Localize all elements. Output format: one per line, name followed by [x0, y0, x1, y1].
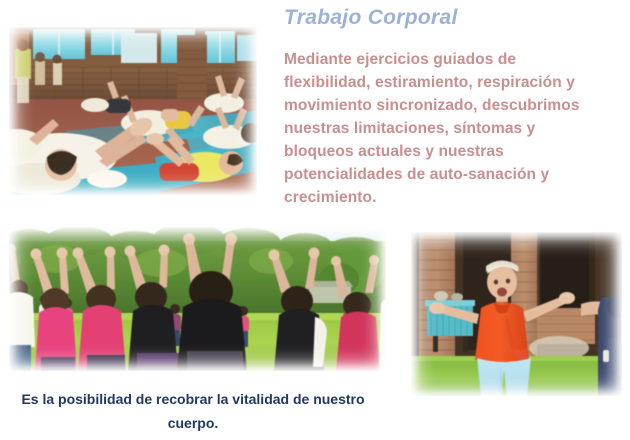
photo-woman-outdoor-graphic	[411, 232, 622, 396]
caption-text: Es la posibilidad de recobrar la vitalid…	[18, 387, 368, 435]
page-title: Trabajo Corporal	[284, 6, 614, 30]
photo-yoga-indoor-graphic	[9, 27, 257, 195]
photo-group-outdoor	[9, 227, 386, 371]
photo-yoga-indoor	[9, 27, 257, 195]
photo-group-outdoor-graphic	[9, 227, 386, 371]
photo-woman-outdoor	[411, 232, 622, 396]
body-paragraph: Mediante ejercicios guiados de flexibili…	[284, 48, 604, 209]
presentation-slide: Trabajo Corporal Mediante ejercicios gui…	[0, 0, 630, 440]
